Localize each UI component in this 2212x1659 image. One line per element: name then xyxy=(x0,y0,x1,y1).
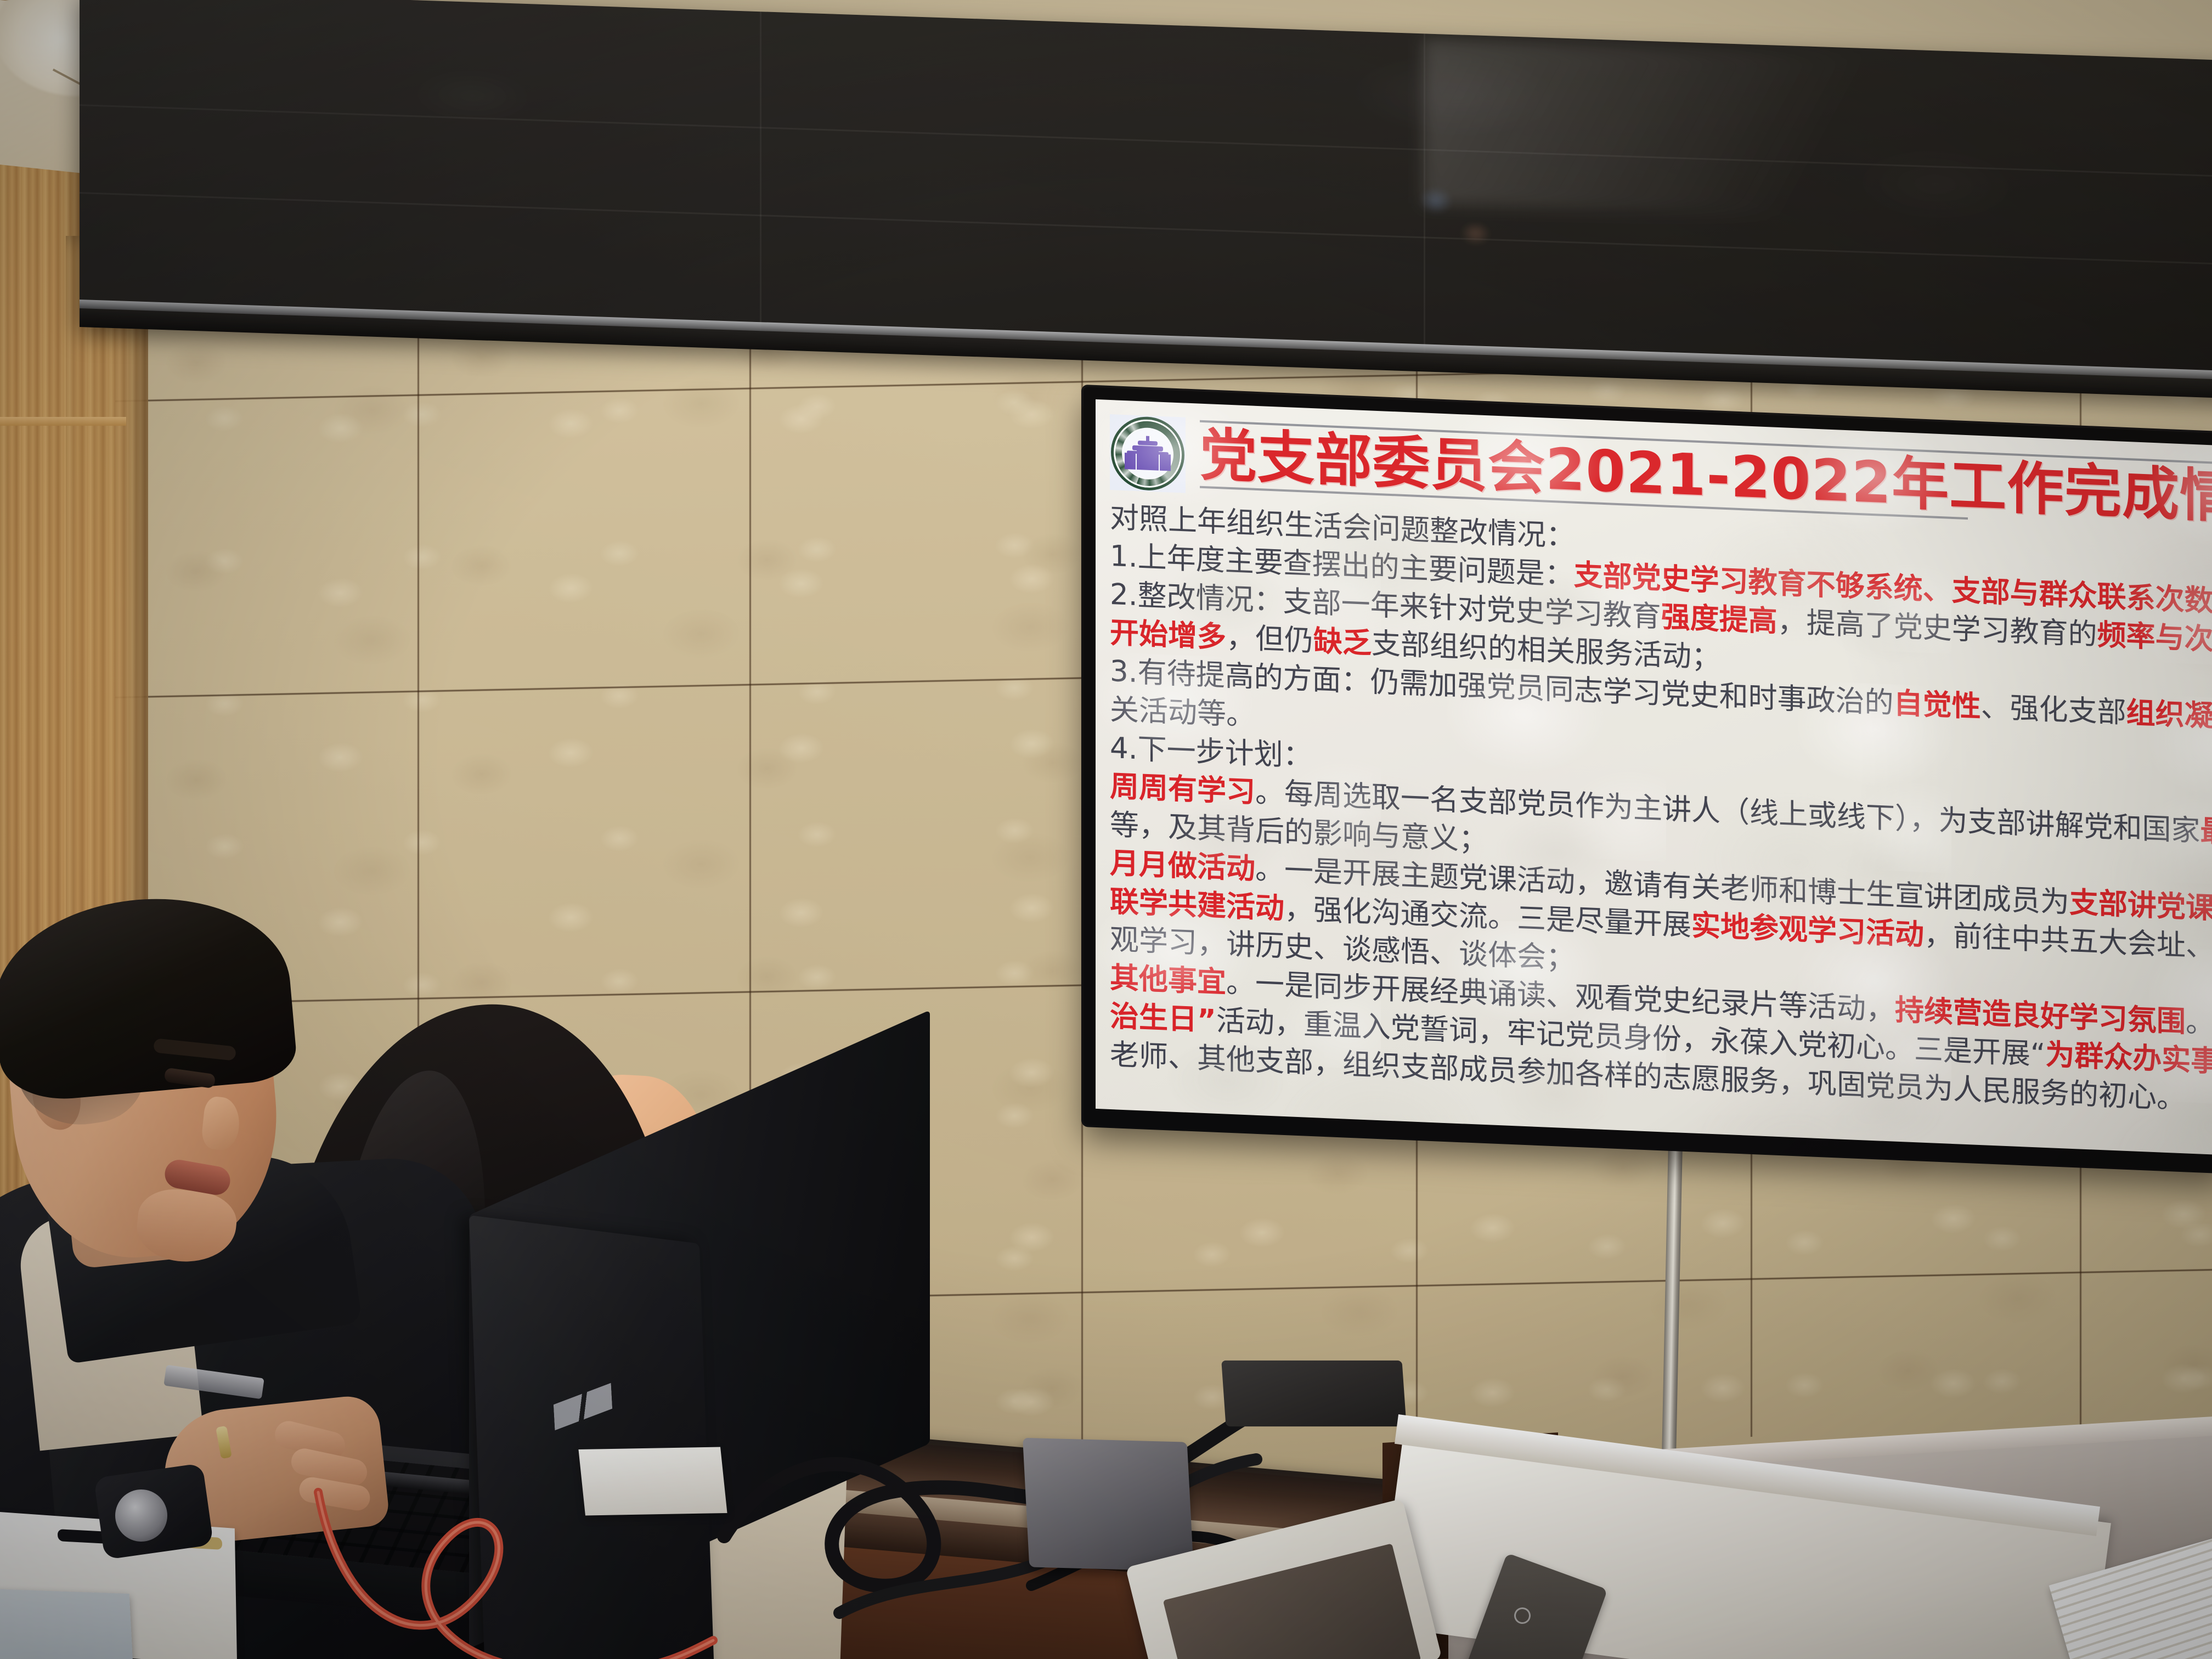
slide-text-segment: 治生日” xyxy=(1110,1000,1216,1037)
power-adapter-brick xyxy=(1023,1438,1194,1572)
watch-face xyxy=(115,1489,167,1542)
slide-text-segment: 实地参观学习活动 xyxy=(1691,909,1924,951)
slide-text-segment: 强度提高 xyxy=(1661,600,1778,639)
tv-screen: 党支部委员会2021-2022年工作完成情况 对照上年组织生活会问题整改情况：1… xyxy=(1096,399,2212,1155)
desk-cable-port[interactable] xyxy=(1221,1361,1407,1426)
slide-text-segment: 最新的政策 xyxy=(2200,814,2212,854)
slide-text-segment: 周周有学习 xyxy=(1110,770,1255,809)
slide-text-segment: 自觉性 xyxy=(1894,686,1981,724)
slide-text-segment: 联学共建活动 xyxy=(1110,885,1284,926)
slide-text-segment: 支部讲党课 xyxy=(2069,885,2212,925)
slide-text-segment: 缺乏 xyxy=(1313,624,1372,660)
meeting-room-photo: 党支部委员会2021-2022年工作完成情况 对照上年组织生活会问题整改情况：1… xyxy=(0,0,2212,1659)
slide-text-segment: ，但仍 xyxy=(1226,621,1313,658)
dark-projection-board xyxy=(80,0,2212,396)
wall-mounted-tv[interactable]: 党支部委员会2021-2022年工作完成情况 对照上年组织生活会问题整改情况：1… xyxy=(1084,387,2212,1172)
document-stack-left-lower[interactable] xyxy=(0,1588,134,1659)
slide-text-segment: 、强化支部 xyxy=(1981,690,2126,730)
wood-trim-rail xyxy=(0,417,126,426)
slide-text-segment: 组织凝聚力 xyxy=(2126,696,2212,736)
slide-text-segment: 为群众办实事” xyxy=(2045,1038,2212,1079)
presentation-slide: 党支部委员会2021-2022年工作完成情况 对照上年组织生活会问题整改情况：1… xyxy=(1096,399,2212,1155)
slide-body-text: 对照上年组织生活会问题整改情况：1.上年度主要查摆出的主要问题是：支部党史学习教… xyxy=(1110,499,2212,1120)
wuhan-university-emblem-icon xyxy=(1110,414,1186,493)
slide-text-segment: 。二是组织开 xyxy=(2186,1006,2212,1046)
slide-text-segment: 频率与次数 xyxy=(2097,618,2212,658)
slide-text-segment: 开始增多 xyxy=(1110,616,1226,654)
slide-text-segment: 月月做活动 xyxy=(1110,847,1255,886)
slide-text-segment: 关活动等。 xyxy=(1110,693,1255,732)
paper-note[interactable] xyxy=(578,1447,727,1516)
slide-text-segment: 4.下一步计划： xyxy=(1110,731,1312,773)
slide-text-segment: 其他事宜 xyxy=(1110,961,1226,1000)
